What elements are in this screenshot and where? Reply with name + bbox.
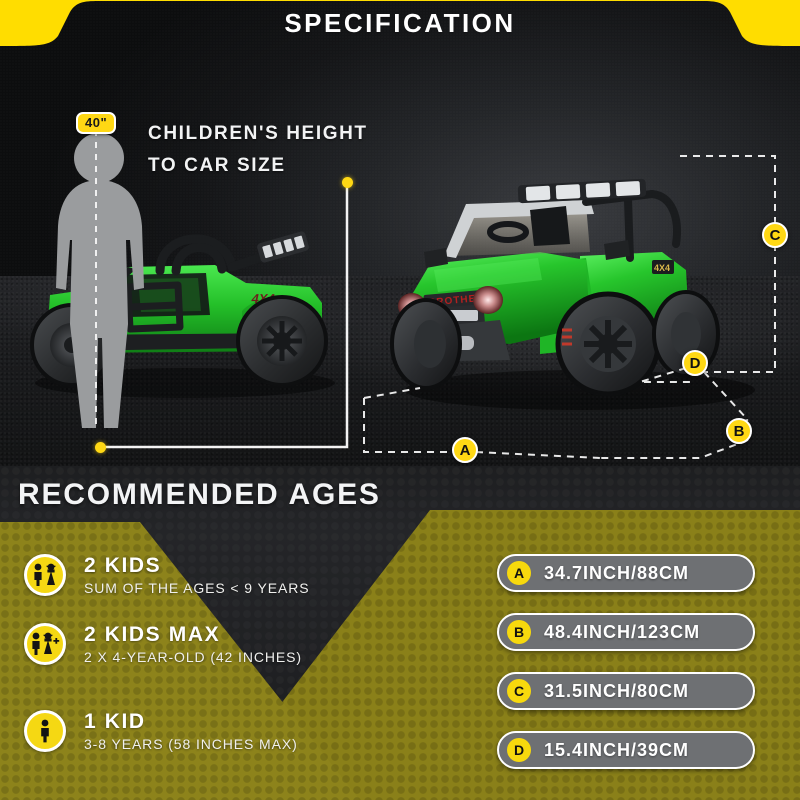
age-subtitle: 2 X 4-YEAR-OLD (42 INCHES) xyxy=(84,649,302,665)
dimension-pill-a: A 34.7INCH/88CM xyxy=(497,554,755,592)
headline-line-2: TO CAR SIZE xyxy=(148,150,368,182)
page-title: SPECIFICATION xyxy=(0,0,800,46)
specification-banner: SPECIFICATION xyxy=(0,0,800,52)
recommended-ages-band: RECOMMENDED AGES 2 KIDS SUM OF THE AGES … xyxy=(0,466,800,800)
age-subtitle: SUM OF THE AGES < 9 YEARS xyxy=(84,580,309,596)
pill-value-a: 34.7INCH/88CM xyxy=(544,563,689,584)
two-kids-max-icon xyxy=(24,623,66,665)
age-title: 2 KIDS xyxy=(84,554,309,577)
age-title: 1 KID xyxy=(84,710,298,733)
two-kids-icon xyxy=(24,554,66,596)
height-headline: CHILDREN'S HEIGHT TO CAR SIZE xyxy=(148,118,368,182)
headline-line-1: CHILDREN'S HEIGHT xyxy=(148,118,368,150)
callout-badge-c: C xyxy=(762,222,788,248)
callout-badge-b: B xyxy=(726,418,752,444)
age-row-two-kids: 2 KIDS SUM OF THE AGES < 9 YEARS xyxy=(24,554,309,596)
height-badge-40in: 40" xyxy=(76,112,116,134)
age-text-block: 2 KIDS MAX 2 X 4-YEAR-OLD (42 INCHES) xyxy=(84,623,302,665)
callout-badge-a: A xyxy=(452,437,478,463)
pill-value-b: 48.4INCH/123CM xyxy=(544,622,700,643)
recommended-ages-title: RECOMMENDED AGES xyxy=(18,478,381,512)
pill-letter-b: B xyxy=(507,620,531,644)
age-row-one-kid: 1 KID 3-8 YEARS (58 INCHES MAX) xyxy=(24,710,298,752)
pill-value-c: 31.5INCH/80CM xyxy=(544,681,689,702)
age-title: 2 KIDS MAX xyxy=(84,623,302,646)
dimension-pill-c: C 31.5INCH/80CM xyxy=(497,672,755,710)
callout-badge-d: D xyxy=(682,350,708,376)
age-text-block: 2 KIDS SUM OF THE AGES < 9 YEARS xyxy=(84,554,309,596)
specification-infographic: 4X4 xyxy=(0,0,800,800)
pill-letter-d: D xyxy=(507,738,531,762)
dimension-pill-d: D 15.4INCH/39CM xyxy=(497,731,755,769)
age-text-block: 1 KID 3-8 YEARS (58 INCHES MAX) xyxy=(84,710,298,752)
dimension-pill-b: B 48.4INCH/123CM xyxy=(497,613,755,651)
pill-letter-a: A xyxy=(507,561,531,585)
bracket-dot-bottom xyxy=(95,442,106,453)
pill-value-d: 15.4INCH/39CM xyxy=(544,740,689,761)
age-subtitle: 3-8 YEARS (58 INCHES MAX) xyxy=(84,736,298,752)
pill-letter-c: C xyxy=(507,679,531,703)
height-measure-bracket xyxy=(0,150,360,466)
age-row-two-kids-max: 2 KIDS MAX 2 X 4-YEAR-OLD (42 INCHES) xyxy=(24,623,302,665)
product-photo-area: 4X4 xyxy=(0,0,800,466)
one-kid-icon xyxy=(24,710,66,752)
